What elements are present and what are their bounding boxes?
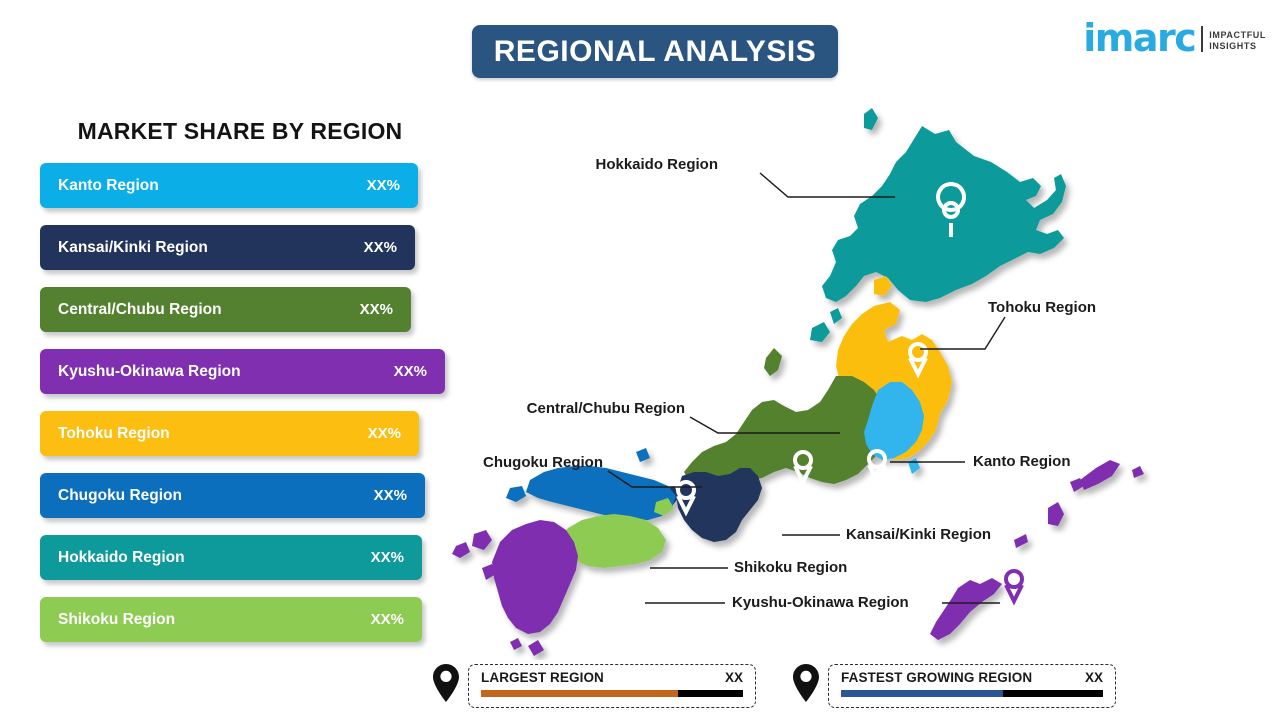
region-list: Kanto RegionXX%Kansai/Kinki RegionXX%Cen… xyxy=(40,163,440,642)
map-region-kyushu[interactable] xyxy=(452,520,578,656)
map-label-hokkaido: Hokkaido Region xyxy=(595,156,718,173)
page-title: REGIONAL ANALYSIS xyxy=(494,35,816,69)
region-share-row[interactable]: Tohoku RegionXX% xyxy=(40,411,419,456)
fastest-growing-region-label: FASTEST GROWING REGION xyxy=(841,670,1032,685)
fastest-growing-region-value: XX xyxy=(1085,670,1103,685)
map-label-shikoku: Shikoku Region xyxy=(734,559,847,576)
market-share-panel: MARKET SHARE BY REGION Kanto RegionXX%Ka… xyxy=(40,118,440,659)
logo-divider xyxy=(1201,26,1203,52)
fastest-growing-region-progress-fill xyxy=(841,690,1003,697)
region-share-row[interactable]: Kansai/Kinki RegionXX% xyxy=(40,225,415,270)
region-share-label: Kansai/Kinki Region xyxy=(58,239,208,257)
logo-tagline: IMPACTFUL INSIGHTS xyxy=(1209,30,1266,52)
largest-region-progress-track xyxy=(481,690,743,697)
region-share-label: Kyushu-Okinawa Region xyxy=(58,363,241,381)
fastest-growing-region-progress-track xyxy=(841,690,1103,697)
logo-tagline-line1: IMPACTFUL xyxy=(1209,30,1266,41)
map-label-chugoku: Chugoku Region xyxy=(483,454,603,471)
map-label-kyushu: Kyushu-Okinawa Region xyxy=(732,594,909,611)
map-label-kansai: Kansai/Kinki Region xyxy=(846,526,991,543)
pin-okinawa[interactable] xyxy=(1006,571,1022,601)
region-share-label: Chugoku Region xyxy=(58,487,182,505)
region-share-label: Tohoku Region xyxy=(58,425,170,443)
map-label-kanto: Kanto Region xyxy=(973,453,1071,470)
map-region-okinawa[interactable] xyxy=(930,460,1144,640)
pin-kyushu[interactable] xyxy=(620,577,636,607)
slide-canvas: REGIONAL ANALYSIS imarc IMPACTFUL INSIGH… xyxy=(0,0,1280,720)
map-region-kansai[interactable] xyxy=(662,468,762,542)
map-label-tohoku: Tohoku Region xyxy=(988,299,1096,316)
region-share-row[interactable]: Hokkaido RegionXX% xyxy=(40,535,422,580)
largest-region-progress-fill xyxy=(481,690,678,697)
region-share-value: XX% xyxy=(360,301,393,318)
page-title-banner: REGIONAL ANALYSIS xyxy=(472,25,838,78)
largest-region-callout[interactable]: LARGEST REGION XX xyxy=(432,663,756,708)
largest-region-value: XX xyxy=(725,670,743,685)
region-share-value: XX% xyxy=(368,425,401,442)
region-share-value: XX% xyxy=(367,177,400,194)
region-share-value: XX% xyxy=(394,363,427,380)
map-pin-icon xyxy=(432,663,460,708)
japan-map: Hokkaido Region Tohoku Region Central/Ch… xyxy=(440,90,1280,660)
region-share-value: XX% xyxy=(371,549,404,566)
region-share-label: Central/Chubu Region xyxy=(58,301,222,319)
imarc-logo: imarc IMPACTFUL INSIGHTS xyxy=(1083,12,1266,56)
region-share-row[interactable]: Kyushu-Okinawa RegionXX% xyxy=(40,349,445,394)
region-share-value: XX% xyxy=(371,611,404,628)
largest-region-label: LARGEST REGION xyxy=(481,670,604,685)
map-label-chubu: Central/Chubu Region xyxy=(527,400,685,417)
region-share-label: Hokkaido Region xyxy=(58,549,185,567)
logo-tagline-line2: INSIGHTS xyxy=(1209,41,1266,52)
map-pin-icon xyxy=(792,663,820,708)
region-share-label: Kanto Region xyxy=(58,177,159,195)
japan-map-svg xyxy=(440,90,1280,660)
region-share-value: XX% xyxy=(364,239,397,256)
region-share-row[interactable]: Central/Chubu RegionXX% xyxy=(40,287,411,332)
pin-shikoku[interactable] xyxy=(679,536,693,562)
region-share-label: Shikoku Region xyxy=(58,611,175,629)
market-share-heading: MARKET SHARE BY REGION xyxy=(40,118,440,145)
region-share-row[interactable]: Kanto RegionXX% xyxy=(40,163,418,208)
region-share-row[interactable]: Shikoku RegionXX% xyxy=(40,597,422,642)
logo-wordmark: imarc xyxy=(1083,20,1195,56)
fastest-growing-region-box: FASTEST GROWING REGION XX xyxy=(828,664,1116,708)
fastest-growing-region-callout[interactable]: FASTEST GROWING REGION XX xyxy=(792,663,1116,708)
region-share-value: XX% xyxy=(374,487,407,504)
largest-region-box: LARGEST REGION XX xyxy=(468,664,756,708)
pin-kansai[interactable] xyxy=(767,507,783,537)
region-share-row[interactable]: Chugoku RegionXX% xyxy=(40,473,425,518)
